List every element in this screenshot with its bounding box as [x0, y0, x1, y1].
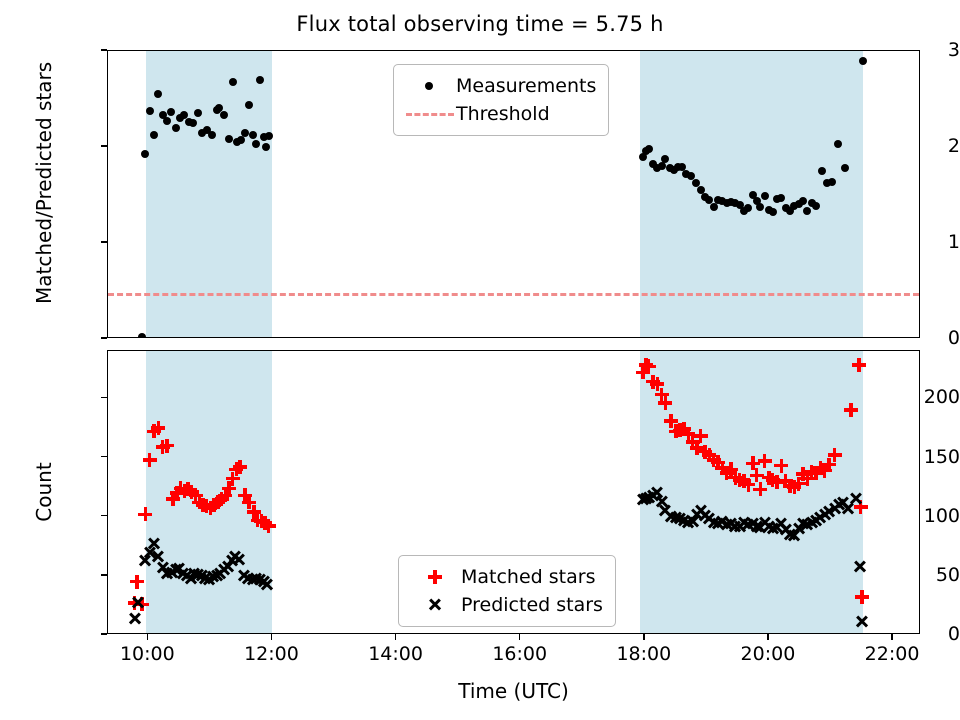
ratio-panel-ylabel: Matched/Predicted stars	[32, 84, 56, 304]
figure-title: Flux total observing time = 5.75 h	[0, 12, 960, 36]
ytick-mark	[101, 49, 107, 51]
ytick-label: 100	[865, 505, 960, 527]
xtick-mark	[147, 634, 149, 640]
count-panel-legend[interactable]: Matched starsPredicted stars	[398, 555, 616, 627]
ytick-mark	[101, 515, 107, 517]
xtick-mark	[519, 634, 521, 640]
data-point-measurement	[241, 129, 249, 137]
data-point-measurement	[645, 145, 653, 153]
ytick-label: 0	[865, 327, 960, 349]
legend-measurements-label: Threshold	[456, 103, 550, 125]
xtick-mark	[271, 634, 273, 640]
data-point-matched-star	[827, 447, 843, 463]
data-point-matched-star	[851, 357, 867, 373]
ytick-mark	[101, 397, 107, 399]
xtick-label: 16:00	[492, 643, 547, 665]
dashed-line-legend-icon	[404, 103, 456, 125]
xtick-label: 18:00	[616, 643, 671, 665]
ytick-label: 150	[865, 446, 960, 468]
plus-legend-icon	[409, 566, 461, 588]
data-point-measurement	[761, 192, 769, 200]
data-point-measurement	[799, 197, 807, 205]
data-point-measurement	[189, 119, 197, 127]
data-point-predicted-star	[848, 491, 864, 507]
legend-stars-item[interactable]: Predicted stars	[409, 591, 603, 619]
xtick-label: 22:00	[865, 643, 920, 665]
data-point-matched-star	[641, 358, 657, 374]
data-point-measurement	[245, 101, 253, 109]
data-point-matched-star	[843, 402, 859, 418]
data-point-measurement	[141, 150, 149, 158]
xtick-mark	[643, 634, 645, 640]
data-point-predicted-star	[231, 551, 247, 567]
legend-measurements-item[interactable]: Measurements	[404, 72, 596, 100]
xtick-label: 14:00	[368, 643, 423, 665]
data-point-measurement	[146, 107, 154, 115]
data-point-matched-star	[773, 458, 789, 474]
ytick-mark	[101, 633, 107, 635]
ytick-mark	[101, 574, 107, 576]
cross-legend-icon	[409, 594, 461, 616]
data-point-matched-star	[854, 589, 870, 605]
legend-stars-label: Matched stars	[461, 566, 595, 588]
data-point-predicted-star	[130, 595, 146, 611]
data-point-measurement	[658, 162, 666, 170]
data-point-measurement	[812, 202, 820, 210]
xtick-mark	[767, 634, 769, 640]
data-point-matched-star	[757, 453, 773, 469]
xtick-label: 20:00	[741, 643, 796, 665]
ytick-label: 2	[865, 135, 960, 157]
x-axis-label: Time (UTC)	[0, 679, 960, 703]
data-point-measurement	[841, 164, 849, 172]
figure-canvas: Flux total observing time = 5.75 h 0123 …	[0, 0, 960, 720]
dot-legend-icon	[404, 75, 456, 97]
xtick-label: 12:00	[244, 643, 299, 665]
ytick-mark	[101, 456, 107, 458]
ytick-mark	[101, 337, 107, 339]
data-point-predicted-star	[259, 576, 275, 592]
data-point-matched-star	[693, 428, 709, 444]
data-point-matched-star	[232, 459, 248, 475]
xtick-label: 10:00	[120, 643, 175, 665]
data-point-matched-star	[129, 574, 145, 590]
legend-measurements-item[interactable]: Threshold	[404, 100, 596, 128]
data-point-measurement	[163, 117, 171, 125]
ytick-label: 50	[865, 564, 960, 586]
xtick-mark	[395, 634, 397, 640]
data-point-predicted-star	[127, 610, 143, 626]
data-point-measurement	[256, 76, 264, 84]
ytick-label: 0	[865, 623, 960, 645]
count-panel-ylabel: Count	[32, 402, 56, 582]
data-point-measurement	[229, 78, 237, 86]
ytick-label: 200	[865, 386, 960, 408]
legend-measurements-label: Measurements	[456, 75, 596, 97]
data-point-matched-star	[150, 420, 166, 436]
xtick-mark	[891, 634, 893, 640]
data-point-matched-star	[657, 395, 673, 411]
data-point-measurement	[769, 208, 777, 216]
data-point-matched-star	[261, 518, 277, 534]
data-point-matched-star	[137, 506, 153, 522]
data-point-measurement	[756, 203, 764, 211]
data-point-matched-star	[159, 438, 175, 454]
legend-stars-item[interactable]: Matched stars	[409, 563, 603, 591]
ytick-mark	[101, 145, 107, 147]
legend-stars-label: Predicted stars	[461, 594, 603, 616]
data-point-measurement	[138, 333, 146, 338]
ratio-panel-legend[interactable]: MeasurementsThreshold	[393, 64, 609, 136]
threshold-line	[108, 293, 919, 296]
ytick-label: 1	[865, 231, 960, 253]
data-point-measurement	[828, 178, 836, 186]
ytick-mark	[101, 241, 107, 243]
data-point-measurement	[172, 124, 180, 132]
ytick-label: 3	[865, 39, 960, 61]
